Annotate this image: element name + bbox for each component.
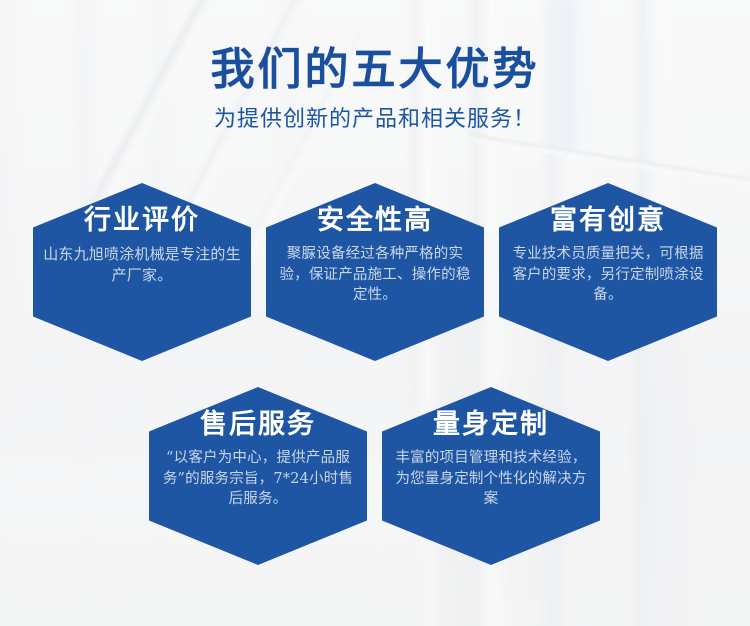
advantage-body: 山东九旭喷涂机械是专注的生产厂家。 [39,244,245,286]
page-title: 我们的五大优势 [0,44,750,96]
promo-banner: 我们的五大优势 为提供创新的产品和相关服务！ 行业评价 山东九旭喷涂机械是专注的… [0,0,750,626]
advantage-content: 行业评价 山东九旭喷涂机械是专注的生产厂家。 [39,205,245,286]
page-subtitle: 为提供创新的产品和相关服务！ [0,106,750,134]
advantage-body: 专业技术员质量把关，可根据客户的要求，另行定制喷涂设备。 [505,244,711,306]
advantage-content: 售后服务 “以客户为中心，提供产品服务”的服务宗旨，7*24小时售后服务。 [155,409,361,510]
advantage-body: 聚脲设备经过各种严格的实验，保证产品施工、操作的稳定性。 [272,244,478,306]
advantage-body: “以客户为中心，提供产品服务”的服务宗旨，7*24小时售后服务。 [155,448,361,510]
advantage-content: 量身定制 丰富的项目管理和技术经验，为您量身定制个性化的解决方案 [388,409,594,510]
header-block: 我们的五大优势 为提供创新的产品和相关服务！ [0,44,750,134]
advantage-content: 富有创意 专业技术员质量把关，可根据客户的要求，另行定制喷涂设备。 [505,205,711,306]
advantage-body: 丰富的项目管理和技术经验，为您量身定制个性化的解决方案 [388,448,594,510]
advantage-content: 安全性高 聚脲设备经过各种严格的实验，保证产品施工、操作的稳定性。 [272,205,478,306]
